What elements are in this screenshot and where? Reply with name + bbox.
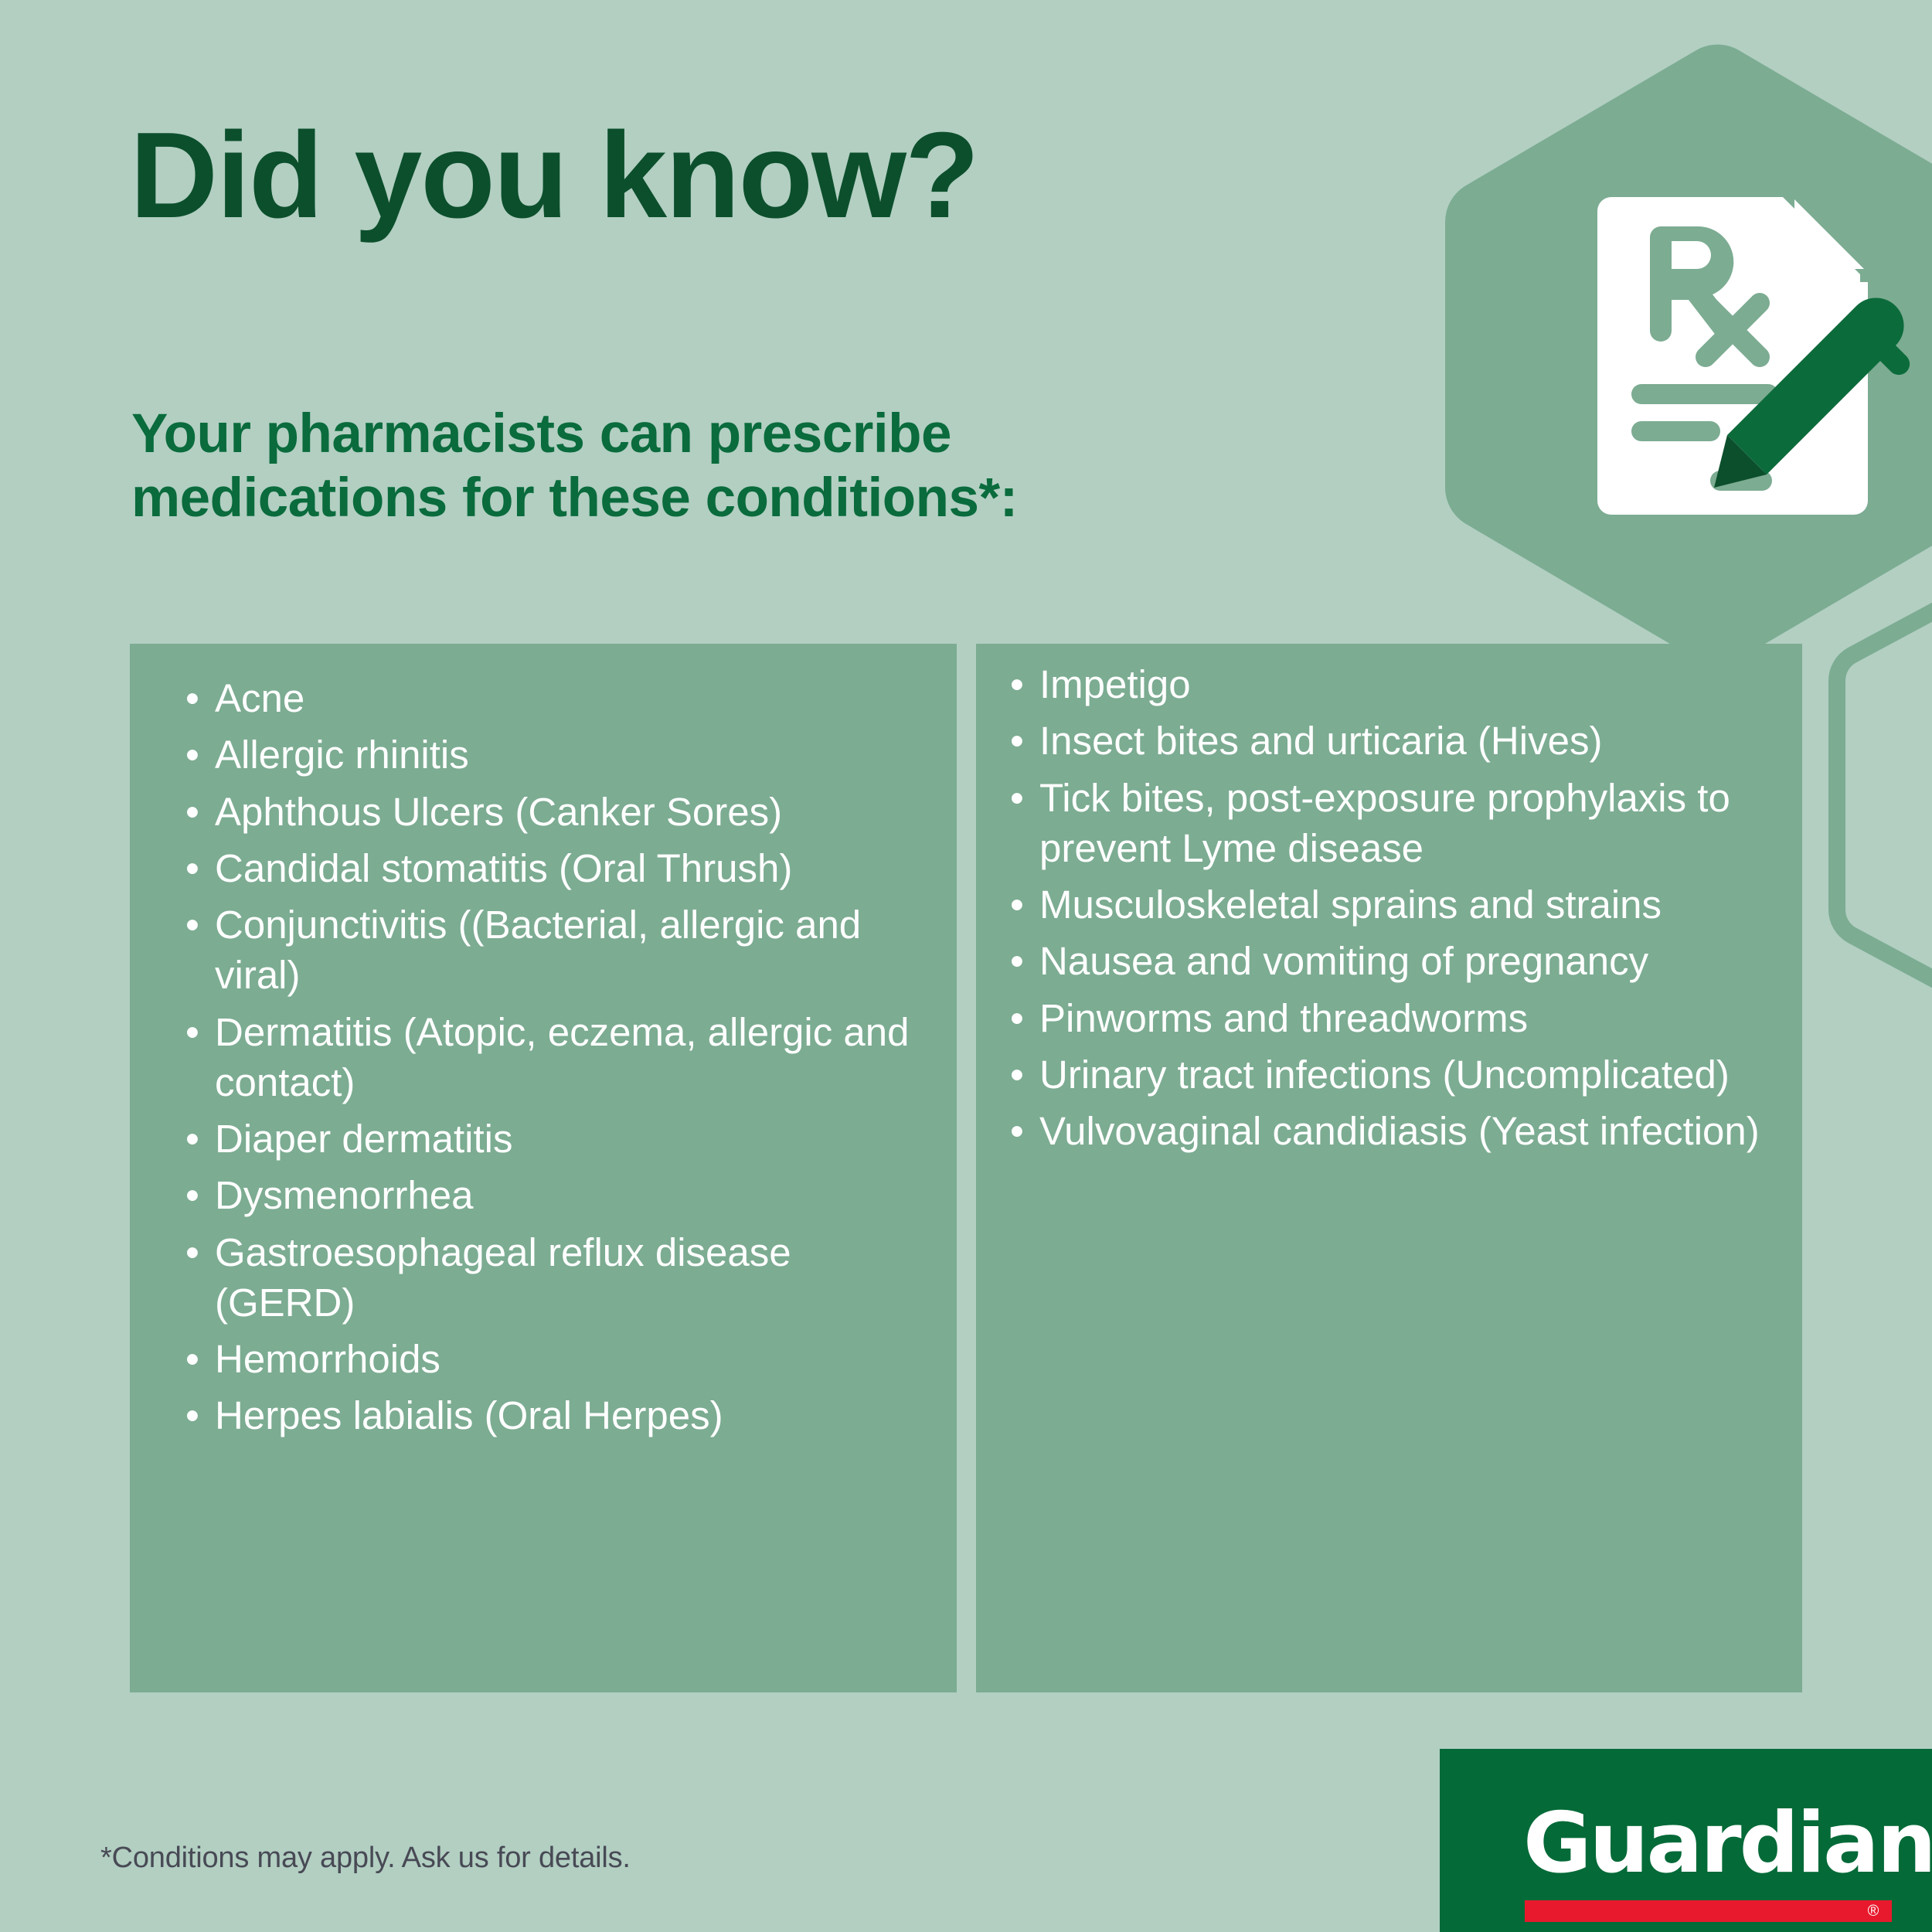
guardian-wordmark: Guardian xyxy=(1523,1795,1932,1892)
rx-prescription-document-icon xyxy=(1597,197,1910,515)
list-item: • Vulvovaginal candidiasis (Yeast infect… xyxy=(1009,1106,1779,1156)
list-item: • Candidal stomatitis (Oral Thrush) xyxy=(184,843,934,893)
page-subtitle-line-2: medications for these conditions*: xyxy=(131,466,1291,530)
list-item: • Musculoskeletal sprains and strains xyxy=(1009,879,1779,930)
hexagon-shape-filled xyxy=(1445,45,1932,665)
rx-glyph xyxy=(1650,226,1740,345)
list-item: • Impetigo xyxy=(1009,659,1779,709)
condition-label: Acne xyxy=(215,673,934,723)
list-item: • Dermatitis (Atopic, eczema, allergic a… xyxy=(184,1007,934,1108)
condition-label: Aphthous Ulcers (Canker Sores) xyxy=(215,787,934,837)
list-item: • Pinworms and threadworms xyxy=(1009,993,1779,1043)
condition-label: Musculoskeletal sprains and strains xyxy=(1039,879,1779,930)
condition-label: Diaper dermatitis xyxy=(215,1114,934,1164)
page-subtitle-line-1: Your pharmacists can prescribe xyxy=(131,402,1291,466)
list-item: • Allergic rhinitis xyxy=(184,730,934,780)
list-item: • Herpes labialis (Oral Herpes) xyxy=(184,1390,934,1440)
list-item: • Urinary tract infections (Uncomplicate… xyxy=(1009,1049,1779,1100)
condition-label: Nausea and vomiting of pregnancy xyxy=(1039,936,1779,986)
page-title: Did you know? xyxy=(130,114,1289,236)
bullet-icon: • xyxy=(1010,773,1024,823)
condition-label: Herpes labialis (Oral Herpes) xyxy=(215,1390,934,1440)
condition-label: Conjunctivitis ((Bacterial, allergic and… xyxy=(215,900,934,1001)
conditions-panel-left: • Acne • Allergic rhinitis • Aphthous Ul… xyxy=(130,644,957,1692)
list-item: • Gastroesophageal reflux disease (GERD) xyxy=(184,1227,934,1328)
condition-label: Gastroesophageal reflux disease (GERD) xyxy=(215,1227,934,1328)
list-item: • Tick bites, post-exposure prophylaxis … xyxy=(1009,773,1779,874)
condition-label: Urinary tract infections (Uncomplicated) xyxy=(1039,1049,1779,1100)
page-subtitle: Your pharmacists can prescribe medicatio… xyxy=(131,402,1291,530)
conditions-list-right: • Impetigo • Insect bites and urticaria … xyxy=(976,644,1802,1156)
list-item: • Dysmenorrhea xyxy=(184,1170,934,1220)
bullet-icon: • xyxy=(185,673,199,723)
conditions-list-left: • Acne • Allergic rhinitis • Aphthous Ul… xyxy=(130,644,957,1441)
list-item: • Conjunctivitis ((Bacterial, allergic a… xyxy=(184,900,934,1001)
condition-label: Impetigo xyxy=(1039,659,1779,709)
condition-label: Dermatitis (Atopic, eczema, allergic and… xyxy=(215,1007,934,1108)
pen-icon xyxy=(1714,298,1910,488)
bullet-icon: • xyxy=(185,1334,199,1384)
condition-label: Candidal stomatitis (Oral Thrush) xyxy=(215,843,934,893)
condition-label: Pinworms and threadworms xyxy=(1039,993,1779,1043)
bullet-icon: • xyxy=(185,1390,199,1440)
hexagon-shape-outline xyxy=(1837,537,1932,1053)
registered-trademark-icon: ® xyxy=(1863,1901,1883,1921)
bullet-icon: • xyxy=(185,1114,199,1164)
bullet-icon: • xyxy=(1010,716,1024,766)
list-item: • Acne xyxy=(184,673,934,723)
condition-label: Insect bites and urticaria (Hives) xyxy=(1039,716,1779,766)
infographic-poster: Did you know? Your pharmacists can presc… xyxy=(0,0,1932,1932)
condition-label: Tick bites, post-exposure prophylaxis to… xyxy=(1039,773,1779,874)
condition-label: Vulvovaginal candidiasis (Yeast infectio… xyxy=(1039,1106,1779,1156)
bullet-icon: • xyxy=(185,900,199,950)
conditions-panel-right: • Impetigo • Insect bites and urticaria … xyxy=(976,644,1802,1692)
bullet-icon: • xyxy=(185,1227,199,1277)
list-item: • Hemorrhoids xyxy=(184,1334,934,1384)
list-item: • Diaper dermatitis xyxy=(184,1114,934,1164)
bullet-icon: • xyxy=(1010,1106,1024,1156)
condition-label: Dysmenorrhea xyxy=(215,1170,934,1220)
bullet-icon: • xyxy=(1010,1049,1024,1100)
bullet-icon: • xyxy=(1010,993,1024,1043)
footnote-disclaimer: *Conditions may apply. Ask us for detail… xyxy=(100,1842,631,1875)
bullet-icon: • xyxy=(1010,659,1024,709)
bullet-icon: • xyxy=(185,843,199,893)
guardian-logo: Guardian ® xyxy=(1440,1749,1932,1932)
list-item: • Nausea and vomiting of pregnancy xyxy=(1009,936,1779,986)
bullet-icon: • xyxy=(185,787,199,837)
bullet-icon: • xyxy=(1010,936,1024,986)
list-item: • Aphthous Ulcers (Canker Sores) xyxy=(184,787,934,837)
bullet-icon: • xyxy=(185,730,199,780)
bullet-icon: • xyxy=(185,1170,199,1220)
condition-label: Allergic rhinitis xyxy=(215,730,934,780)
bullet-icon: • xyxy=(1010,879,1024,930)
logo-red-rule xyxy=(1525,1900,1892,1922)
condition-label: Hemorrhoids xyxy=(215,1334,934,1384)
list-item: • Insect bites and urticaria (Hives) xyxy=(1009,716,1779,766)
bullet-icon: • xyxy=(185,1007,199,1057)
